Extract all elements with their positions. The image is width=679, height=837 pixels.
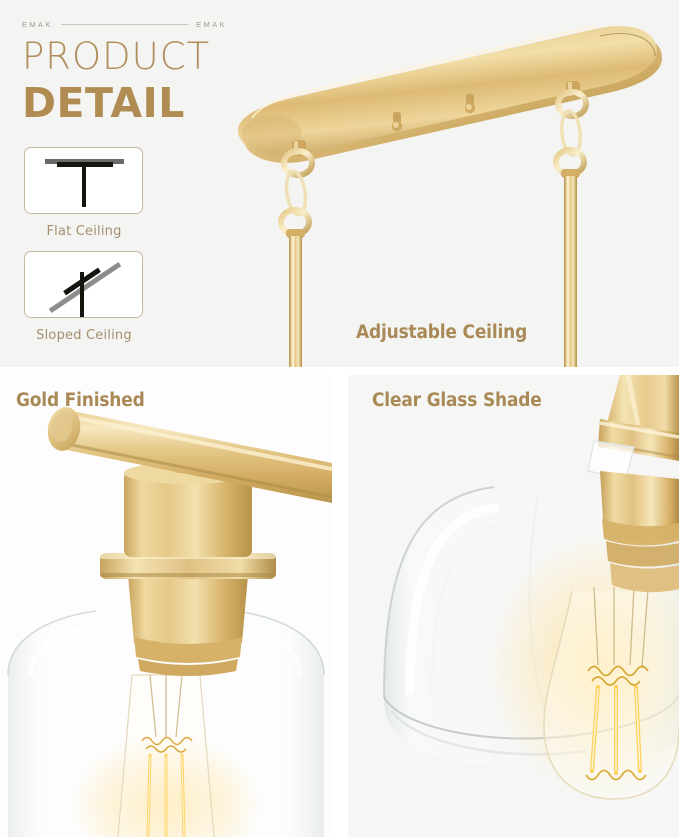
gold-finish-illustration: [0, 375, 332, 837]
glass-shade-illustration: [348, 375, 679, 837]
ceiling-option-sloped[interactable]: [24, 251, 143, 318]
sloped-ceiling-icon: [49, 262, 121, 313]
brand-divider: [61, 24, 188, 25]
caption-gold-finished: Gold Finished: [16, 390, 145, 411]
panel-gold-finished: [0, 375, 332, 837]
sloped-ceiling-stem-icon: [80, 272, 84, 318]
brand-bar: EMAK EMAK: [22, 18, 227, 30]
panel-clear-glass-shade: [348, 375, 679, 837]
page-title-line1: PRODUCT: [22, 38, 210, 76]
flat-ceiling-stem-icon: [82, 162, 86, 207]
filament-bulb-left: [118, 675, 214, 837]
caption-adjustable-ceiling: Adjustable Ceiling: [356, 322, 527, 343]
caption-clear-glass-shade: Clear Glass Shade: [372, 390, 542, 411]
ceiling-option-sloped-label: Sloped Ceiling: [14, 328, 154, 343]
left-hanger-assembly: [281, 140, 312, 367]
ceiling-option-flat[interactable]: [24, 147, 143, 214]
panel-adjustable-ceiling: EMAK EMAK PRODUCT DETAIL Flat Ceiling Sl…: [0, 0, 679, 367]
brand-label-left: EMAK: [22, 20, 53, 29]
ceiling-option-flat-label: Flat Ceiling: [14, 224, 154, 239]
page-title-line2: DETAIL: [22, 82, 185, 125]
right-hanger-assembly: [556, 81, 586, 367]
product-detail-page: EMAK EMAK PRODUCT DETAIL Flat Ceiling Sl…: [0, 0, 679, 837]
brand-label-right: EMAK: [196, 20, 227, 29]
